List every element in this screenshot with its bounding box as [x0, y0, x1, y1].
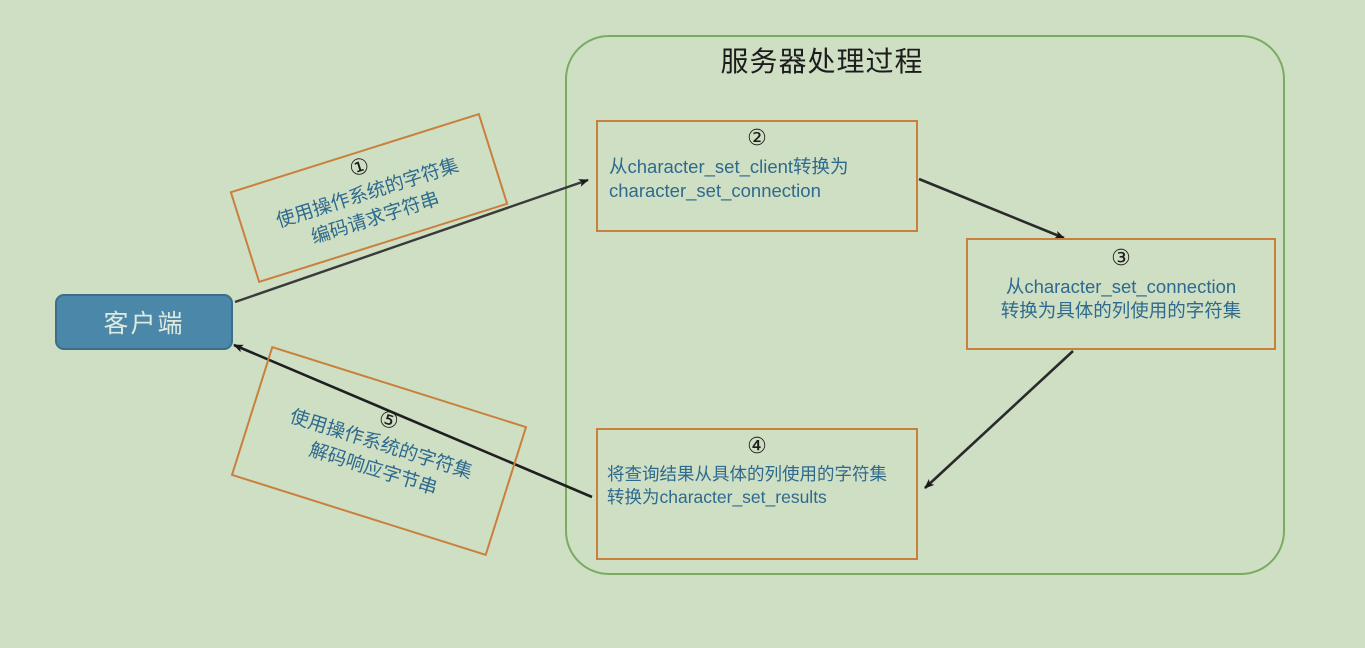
step-box-3[interactable]: ③ 从character_set_connection 转换为具体的列使用的字符… [966, 238, 1276, 350]
step-text-2: 从character_set_client转换为 character_set_c… [598, 155, 916, 203]
diagram-canvas: 服务器处理过程 客户端 ① 使用操作系统的字符集 编码请求字符串 ② 从char… [0, 0, 1365, 648]
step-box-4[interactable]: ④ 将查询结果从具体的列使用的字符集 转换为character_set_resu… [596, 428, 918, 560]
step-box-2[interactable]: ② 从character_set_client转换为 character_set… [596, 120, 918, 232]
step-number-2: ② [598, 126, 916, 151]
step-number-3: ③ [968, 246, 1274, 271]
step-number-4: ④ [598, 434, 916, 459]
step-text-4: 将查询结果从具体的列使用的字符集 转换为character_set_result… [598, 463, 916, 509]
note-box-step-5[interactable]: ⑤ 使用操作系统的字符集 解码响应字节串 [231, 346, 527, 556]
note-box-step-1[interactable]: ① 使用操作系统的字符集 编码请求字符串 [230, 113, 509, 283]
step-text-3: 从character_set_connection 转换为具体的列使用的字符集 [968, 275, 1274, 323]
client-node[interactable]: 客户端 [55, 294, 233, 350]
server-process-title: 服务器处理过程 [612, 40, 1032, 80]
client-label: 客户端 [103, 304, 184, 340]
